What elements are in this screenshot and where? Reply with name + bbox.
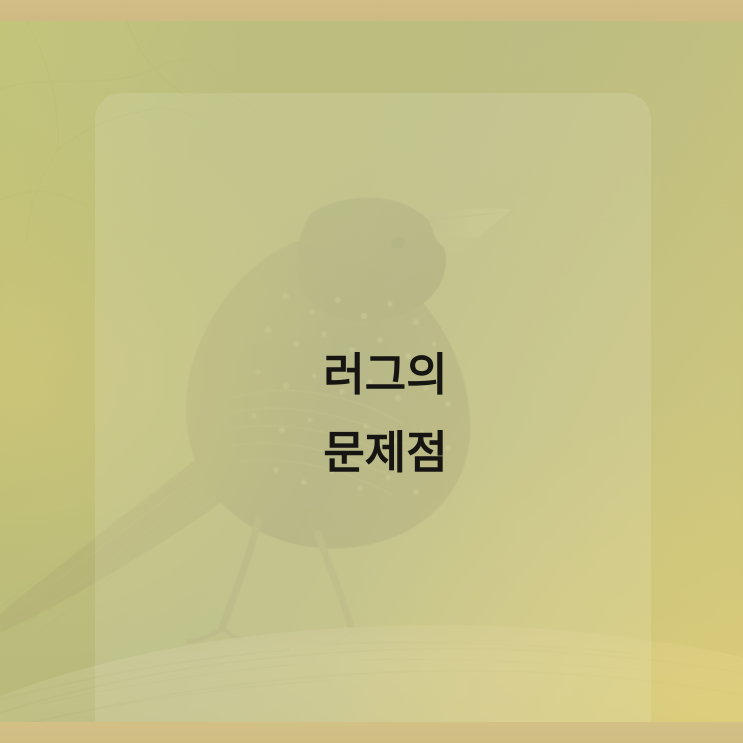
title-line-1: 러그의 [28,336,743,414]
title-block: 러그의 문제점 [0,336,743,492]
top-tan-band [0,0,743,21]
bottom-tan-band [0,722,743,743]
thumbnail-canvas: 러그의 문제점 [0,0,743,743]
title-line-2: 문제점 [28,414,743,492]
